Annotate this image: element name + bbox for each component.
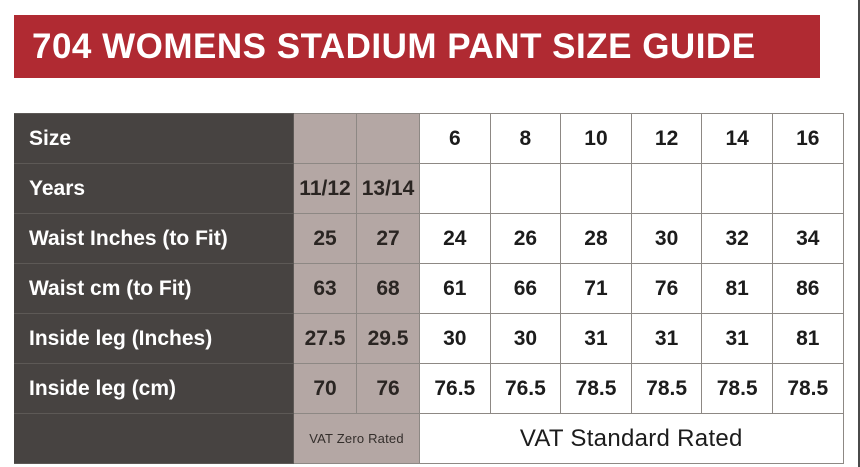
size-guide-table: Size 6 8 10 12 14 16 Years 11/12 13/14 [14, 113, 844, 464]
row-label-inside-leg-cm: Inside leg (cm) [15, 364, 294, 414]
table-row-size: Size 6 8 10 12 14 16 [15, 114, 844, 164]
cell-size-kids-2 [357, 114, 420, 164]
table-row-waist-inches: Waist Inches (to Fit) 25 27 24 26 28 30 … [15, 214, 844, 264]
cell-waist-in-kids-2: 27 [357, 214, 420, 264]
cell-inleg-cm-8: 76.5 [490, 364, 561, 414]
cell-inleg-in-8: 30 [490, 314, 561, 364]
cell-inleg-in-16: 81 [772, 314, 843, 364]
vat-standard-rated-cell: VAT Standard Rated [420, 414, 844, 464]
cell-inleg-cm-16: 78.5 [772, 364, 843, 414]
cell-waist-in-8: 26 [490, 214, 561, 264]
cell-inleg-cm-kids-2: 76 [357, 364, 420, 414]
cell-size-6: 6 [420, 114, 491, 164]
table-row-years: Years 11/12 13/14 [15, 164, 844, 214]
cell-inleg-cm-6: 76.5 [420, 364, 491, 414]
cell-years-kids-2: 13/14 [357, 164, 420, 214]
vat-zero-rated-cell: VAT Zero Rated [294, 414, 420, 464]
row-label-inside-leg-inches: Inside leg (Inches) [15, 314, 294, 364]
row-label-waist-cm: Waist cm (to Fit) [15, 264, 294, 314]
cell-size-kids-1 [294, 114, 357, 164]
cell-waist-in-10: 28 [561, 214, 632, 264]
cell-inleg-cm-14: 78.5 [702, 364, 773, 414]
table-row-inside-leg-cm: Inside leg (cm) 70 76 76.5 76.5 78.5 78.… [15, 364, 844, 414]
cell-inleg-in-12: 31 [631, 314, 702, 364]
cell-inleg-in-kids-1: 27.5 [294, 314, 357, 364]
cell-waist-cm-16: 86 [772, 264, 843, 314]
cell-waist-in-14: 32 [702, 214, 773, 264]
row-label-years: Years [15, 164, 294, 214]
cell-size-12: 12 [631, 114, 702, 164]
cell-years-10 [561, 164, 632, 214]
row-label-size: Size [15, 114, 294, 164]
cell-years-14 [702, 164, 773, 214]
cell-waist-cm-14: 81 [702, 264, 773, 314]
cell-years-6 [420, 164, 491, 214]
cell-waist-cm-8: 66 [490, 264, 561, 314]
row-label-waist-inches: Waist Inches (to Fit) [15, 214, 294, 264]
cell-waist-in-6: 24 [420, 214, 491, 264]
table-row-inside-leg-inches: Inside leg (Inches) 27.5 29.5 30 30 31 3… [15, 314, 844, 364]
cell-inleg-cm-kids-1: 70 [294, 364, 357, 414]
cell-size-10: 10 [561, 114, 632, 164]
table-row-vat: VAT Zero Rated VAT Standard Rated [15, 414, 844, 464]
cell-waist-cm-kids-1: 63 [294, 264, 357, 314]
cell-waist-cm-10: 71 [561, 264, 632, 314]
cell-waist-in-12: 30 [631, 214, 702, 264]
title-banner: 704 WOMENS STADIUM PANT SIZE GUIDE [14, 15, 820, 78]
cell-inleg-in-14: 31 [702, 314, 773, 364]
cell-years-16 [772, 164, 843, 214]
cell-years-8 [490, 164, 561, 214]
cell-waist-cm-kids-2: 68 [357, 264, 420, 314]
cell-inleg-in-kids-2: 29.5 [357, 314, 420, 364]
size-guide-page: 704 WOMENS STADIUM PANT SIZE GUIDE Size … [0, 0, 860, 467]
row-label-vat [15, 414, 294, 464]
cell-waist-in-kids-1: 25 [294, 214, 357, 264]
cell-inleg-in-6: 30 [420, 314, 491, 364]
cell-waist-cm-12: 76 [631, 264, 702, 314]
page-title: 704 WOMENS STADIUM PANT SIZE GUIDE [32, 29, 756, 64]
cell-size-16: 16 [772, 114, 843, 164]
cell-years-kids-1: 11/12 [294, 164, 357, 214]
cell-waist-cm-6: 61 [420, 264, 491, 314]
cell-inleg-in-10: 31 [561, 314, 632, 364]
cell-inleg-cm-10: 78.5 [561, 364, 632, 414]
cell-waist-in-16: 34 [772, 214, 843, 264]
cell-size-14: 14 [702, 114, 773, 164]
cell-size-8: 8 [490, 114, 561, 164]
cell-years-12 [631, 164, 702, 214]
table-row-waist-cm: Waist cm (to Fit) 63 68 61 66 71 76 81 8… [15, 264, 844, 314]
cell-inleg-cm-12: 78.5 [631, 364, 702, 414]
